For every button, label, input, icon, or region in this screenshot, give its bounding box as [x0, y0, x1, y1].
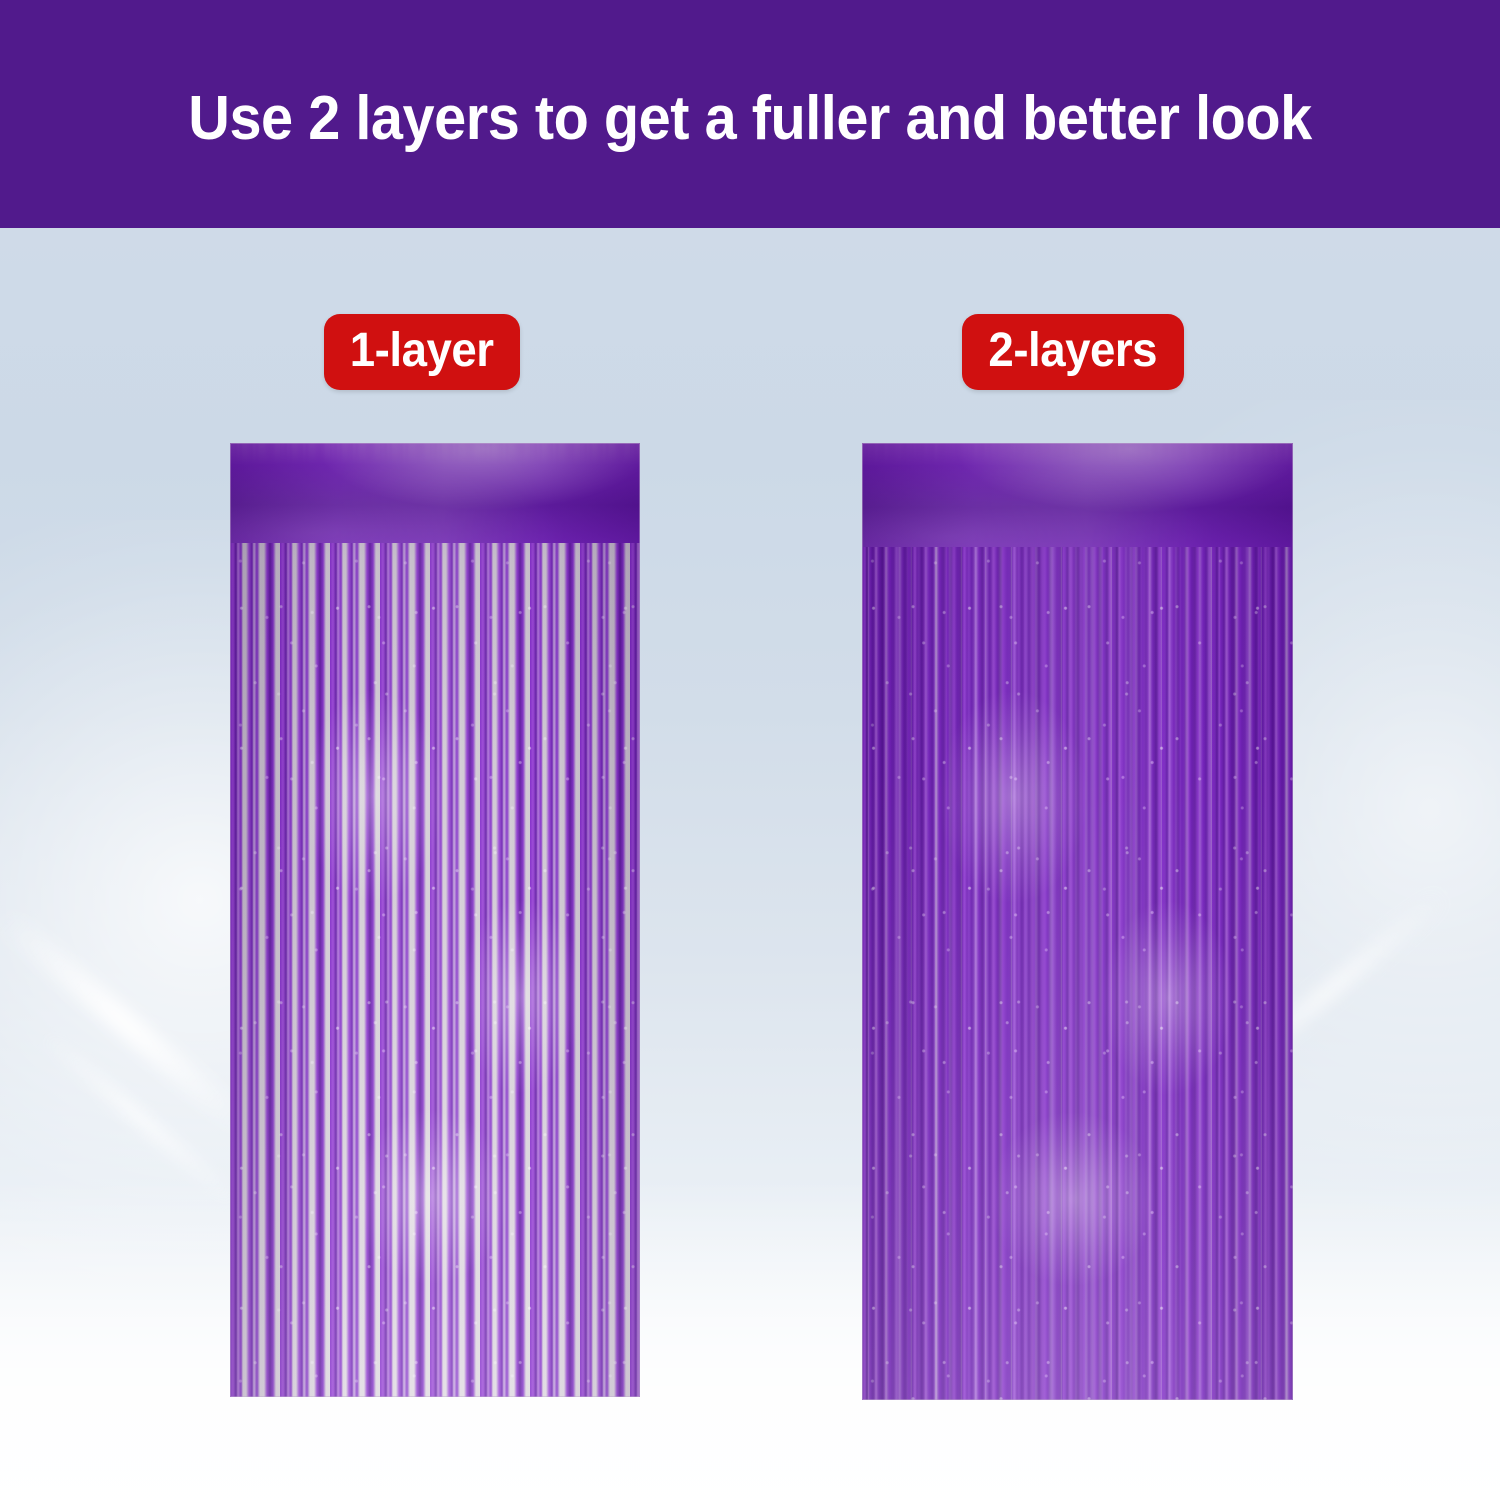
header-banner: Use 2 layers to get a fuller and better … [0, 0, 1500, 228]
badge-1-layer: 1-layer [324, 314, 520, 390]
curtain-fringe-strips [230, 443, 640, 1397]
product-image-2-layers-curtain [862, 443, 1293, 1400]
curtain-top-header-band [230, 443, 640, 543]
badge-2-layers-label: 2-layers [989, 327, 1158, 375]
curtain-body [862, 443, 1293, 1400]
product-comparison-image: Use 2 layers to get a fuller and better … [0, 0, 1500, 1500]
banner-title: Use 2 layers to get a fuller and better … [188, 88, 1311, 150]
curtain-body [230, 443, 640, 1397]
product-image-1-layer-curtain [230, 443, 640, 1397]
curtain-fringe-strips-second-layer [869, 443, 1293, 1400]
curtain-top-header-band [862, 443, 1293, 547]
badge-2-layers: 2-layers [962, 314, 1184, 390]
badge-1-layer-label: 1-layer [350, 327, 494, 375]
